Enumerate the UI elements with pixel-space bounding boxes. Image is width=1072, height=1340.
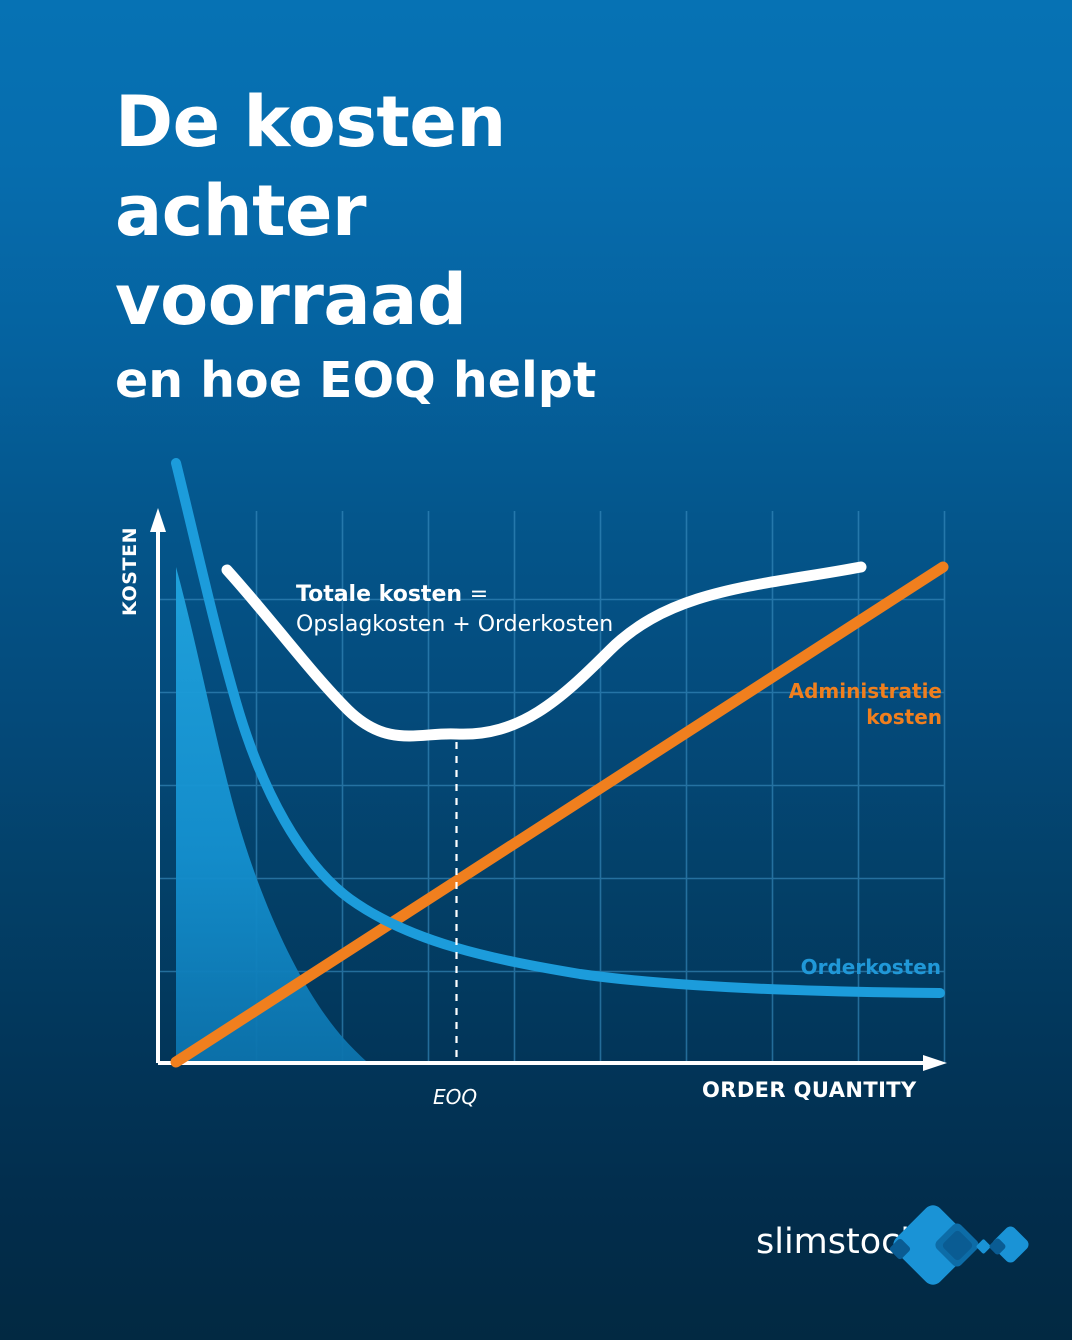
totale-kosten-title: Totale kosten = [296, 580, 613, 610]
totale-kosten-formula: Opslagkosten + Orderkosten [296, 610, 613, 640]
y-axis-arrow [150, 508, 166, 532]
orderkosten-label: Orderkosten [801, 955, 941, 979]
slimstock-diamond-mark-icon [890, 1196, 1030, 1296]
administratie-kosten-label: Administratie kosten [789, 678, 942, 730]
administratie-kosten-label-line2: kosten [789, 704, 942, 730]
y-axis-title: KOSTEN [119, 527, 141, 616]
administratie-kosten-label-line1: Administratie [789, 678, 942, 704]
poster-root: De kosten achter voorraad en hoe EOQ hel… [0, 0, 1072, 1340]
totale-kosten-equals-sign: = [470, 582, 488, 607]
x-axis-arrow [923, 1055, 947, 1071]
x-axis-title: ORDER QUANTITY [702, 1078, 917, 1102]
eoq-tick-label: EOQ [433, 1085, 477, 1109]
slimstock-logo: slimstock [756, 1196, 1026, 1296]
totale-kosten-annotation: Totale kosten = Opslagkosten + Orderkost… [296, 580, 613, 640]
chart-canvas [0, 0, 1072, 1340]
eoq-chart: KOSTEN ORDER QUANTITY EOQ Totale kosten … [0, 0, 1072, 1340]
